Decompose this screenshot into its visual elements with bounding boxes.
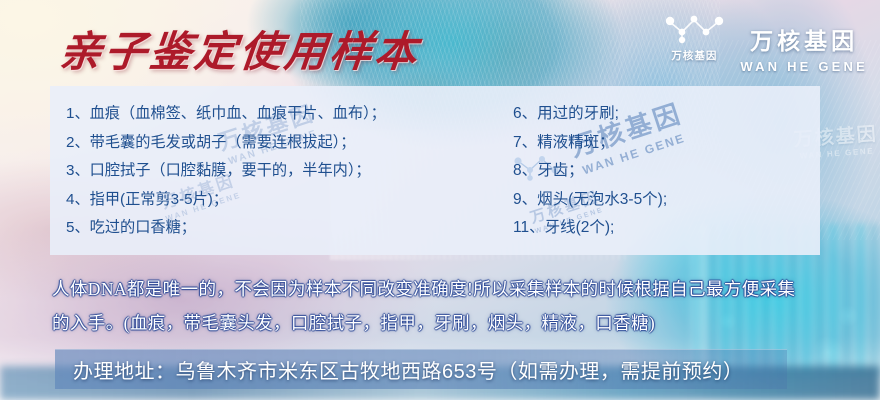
poster-title: 亲子鉴定使用样本 <box>57 18 423 79</box>
list-item: 9、烟头(无泡水3-5个); <box>513 186 820 215</box>
brand-name-cn: 万核基因 <box>750 22 858 56</box>
list-item: 1、血痕（血棉签、纸巾血、血痕干片、血布）； <box>66 100 495 129</box>
poster-canvas: 亲子鉴定使用样本 <box>0 0 880 400</box>
sample-list-left-column: 1、血痕（血棉签、纸巾血、血痕干片、血布）； 2、带毛囊的毛发或胡子（需要连根拔… <box>50 86 495 255</box>
brand-mark-label: 万核基因 <box>671 48 717 63</box>
list-item: 2、带毛囊的毛发或胡子（需要连根拔起）； <box>66 129 495 158</box>
list-item: 3、口腔拭子（口腔黏膜，要干的，半年内）； <box>66 157 495 186</box>
note-text: 人体DNA都是唯一的，不会因为样本不同改变准确度!所以采集样本的时候根据自己最方… <box>52 272 864 340</box>
dna-molecule-icon <box>662 12 726 46</box>
brand-logo: 万核基因 万核基因 WAN HE GENE <box>662 12 868 74</box>
sample-list-panel: 万核基因 WAN HE GENE 万核基因 WAN HE GENE 万核基因 W… <box>50 86 820 255</box>
brand-wordmark: 万核基因 WAN HE GENE <box>740 22 868 74</box>
list-item: 5、吃过的口香糖； <box>66 214 495 243</box>
list-item: 8、牙齿； <box>513 157 820 186</box>
sample-list-right-column: 6、用过的牙刷; 7、精液精斑； 8、牙齿； 9、烟头(无泡水3-5个); 11… <box>495 86 820 255</box>
note-line-2: 的入手。(血痕，带毛囊头发，口腔拭子，指甲，牙刷，烟头，精液，口香糖) <box>52 306 864 340</box>
list-item: 4、指甲(正常剪3-5片)； <box>66 186 495 215</box>
list-item: 11、牙线(2个); <box>513 214 820 243</box>
address-text: 办理地址：乌鲁木齐市米东区古牧地西路653号（如需办理，需提前预约） <box>73 355 743 384</box>
brand-mark: 万核基因 <box>662 12 726 63</box>
note-line-1: 人体DNA都是唯一的，不会因为样本不同改变准确度!所以采集样本的时候根据自己最方… <box>52 272 864 306</box>
list-item: 7、精液精斑； <box>513 129 820 158</box>
brand-name-en: WAN HE GENE <box>740 59 868 74</box>
address-bar: 办理地址：乌鲁木齐市米东区古牧地西路653号（如需办理，需提前预约） <box>55 349 787 389</box>
list-item: 6、用过的牙刷; <box>513 100 820 129</box>
